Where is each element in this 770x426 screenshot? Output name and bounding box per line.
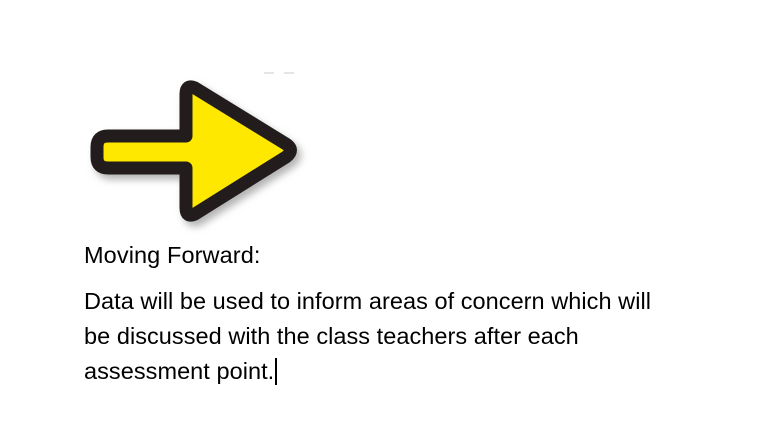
arrow-shape — [97, 87, 291, 215]
body-paragraph[interactable]: Data will be used to inform areas of con… — [84, 284, 704, 389]
text-block[interactable]: Moving Forward: Data will be used to inf… — [84, 238, 704, 389]
heading-moving-forward: Moving Forward: — [84, 238, 704, 272]
paragraph-line-2: be discussed with the class teachers aft… — [84, 319, 704, 354]
paragraph-line-1: Data will be used to inform areas of con… — [84, 284, 704, 319]
text-caret — [275, 358, 277, 385]
paragraph-line-3: assessment point. — [84, 358, 274, 384]
right-arrow-icon[interactable] — [90, 74, 305, 232]
slide-canvas: Moving Forward: Data will be used to inf… — [0, 0, 770, 426]
paragraph-line-3-wrapper: assessment point. — [84, 354, 704, 389]
